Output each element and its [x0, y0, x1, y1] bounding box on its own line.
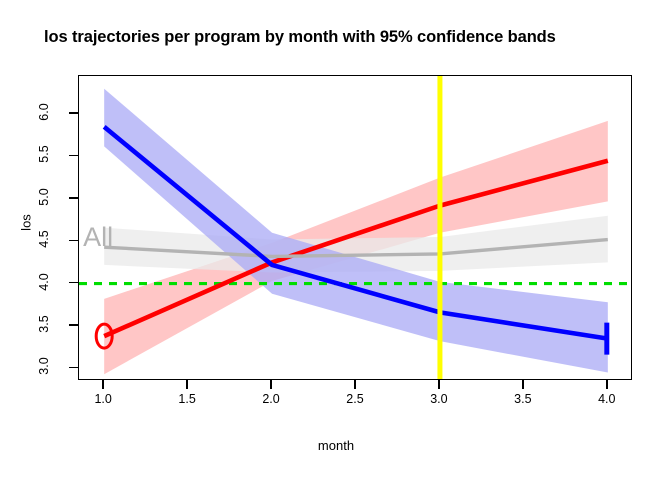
y-axis-tick	[69, 367, 78, 368]
x-axis-tick	[102, 380, 103, 389]
x-axis-tick	[522, 380, 523, 389]
y-axis-tick	[69, 155, 78, 156]
x-axis-tick-label: 3.0	[416, 392, 462, 406]
y-axis-tick-label: 4.5	[37, 219, 51, 259]
y-axis-tick	[69, 324, 78, 325]
y-axis-tick-label: 5.0	[37, 177, 51, 217]
plot-svg	[79, 76, 632, 380]
x-axis-tick	[186, 380, 187, 389]
y-axis-tick-label: 4.0	[37, 262, 51, 302]
x-axis-tick-label: 2.5	[332, 392, 378, 406]
y-axis-tick	[69, 240, 78, 241]
y-axis-tick-label: 3.5	[37, 304, 51, 344]
x-axis-tick	[270, 380, 271, 389]
y-axis-tick-label: 5.5	[37, 134, 51, 174]
x-axis-tick	[354, 380, 355, 389]
y-axis-label: los	[19, 193, 34, 253]
x-axis-label: month	[0, 438, 672, 453]
x-axis-tick	[606, 380, 607, 389]
x-axis-tick	[438, 380, 439, 389]
x-axis-tick-label: 2.0	[248, 392, 294, 406]
chart-canvas: los trajectories per program by month wi…	[0, 0, 672, 480]
y-axis-tick	[69, 197, 78, 198]
chart-title: los trajectories per program by month wi…	[44, 28, 556, 47]
x-axis-tick-label: 1.5	[164, 392, 210, 406]
y-axis-tick-label: 3.0	[37, 346, 51, 386]
y-axis-tick-label: 6.0	[37, 92, 51, 132]
x-axis-tick-label: 4.0	[584, 392, 630, 406]
y-axis-tick	[69, 112, 78, 113]
y-axis-tick	[69, 282, 78, 283]
x-axis-tick-label: 1.0	[80, 392, 126, 406]
x-axis-tick-label: 3.5	[500, 392, 546, 406]
plot-area	[78, 75, 632, 380]
